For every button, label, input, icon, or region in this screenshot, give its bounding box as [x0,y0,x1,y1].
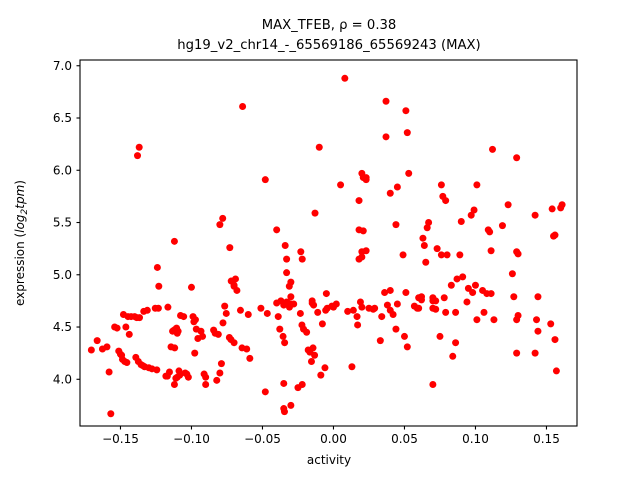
scatter-point [387,190,394,197]
scatter-point [218,360,225,367]
scatter-point [171,238,178,245]
scatter-point [370,306,377,313]
scatter-point [442,197,449,204]
scatter-point [436,333,443,340]
scatter-point [434,245,441,252]
scatter-point [199,333,206,340]
scatter-point [509,270,516,277]
scatter-point [262,388,269,395]
scatter-point [471,206,478,213]
scatter-point [513,350,520,357]
y-tick-label: 4.0 [53,372,72,386]
scatter-point [448,282,455,289]
scatter-point [94,337,101,344]
y-tick-label: 4.5 [53,320,72,334]
scatter-point [553,367,560,374]
scatter-point [363,176,370,183]
scatter-point [429,305,436,312]
scatter-point [213,377,220,384]
scatter-point [547,320,554,327]
scatter-point [490,316,497,323]
scatter-point [299,381,306,388]
scatter-point [483,290,490,297]
scatter-point [316,144,323,151]
scatter-point [499,222,506,229]
scatter-point [180,313,187,320]
scatter-point [378,313,385,320]
scatter-point [123,359,130,366]
x-tick-label: 0.00 [320,432,347,446]
x-tick-label: 0.10 [462,432,489,446]
scatter-point [456,251,463,258]
scatter-point [136,144,143,151]
x-tick-label: −0.15 [102,432,139,446]
scatter-point [458,218,465,225]
scatter-point [533,316,540,323]
y-axis-label-prefix: expression ( [13,233,27,306]
scatter-point [122,324,129,331]
scatter-point [341,75,348,82]
scatter-point [311,352,318,359]
scatter-point [452,309,459,316]
scatter-point [402,107,409,114]
scatter-point [280,333,287,340]
scatter-point [154,264,161,271]
scatter-point [134,152,141,159]
scatter-point [358,304,365,311]
scatter-point [257,305,264,312]
scatter-point [237,307,244,314]
scatter-point [317,372,324,379]
y-tick-label: 6.0 [53,163,72,177]
scatter-point [221,303,228,310]
scatter-point [283,269,290,276]
scatter-point [107,410,114,417]
scatter-point [231,339,238,346]
scatter-plot-figure: MAX_TFEB, ρ = 0.38 hg19_v2_chr14_-_65569… [0,0,640,480]
scatter-point [245,311,252,318]
scatter-point [175,328,182,335]
y-tick-label: 7.0 [53,59,72,73]
chart-title-line-2: hg19_v2_chr14_-_65569186_65569243 (MAX) [177,38,480,53]
scatter-point [299,256,306,263]
scatter-point [273,226,280,233]
scatter-point [550,233,557,240]
plot-canvas: MAX_TFEB, ρ = 0.38 hg19_v2_chr14_-_65569… [0,0,640,480]
scatter-point [350,307,357,314]
scatter-point [452,339,459,346]
scatter-point [215,331,222,338]
scatter-point [275,313,282,320]
scatter-point [459,273,466,280]
x-tick-label: −0.10 [173,432,210,446]
scatter-point [400,251,407,258]
scatter-point [551,336,558,343]
scatter-point [432,297,439,304]
y-axis-label-suffix: ) [13,180,27,185]
scatter-point [422,259,429,266]
scatter-point [549,205,556,212]
scatter-point [425,219,432,226]
scatter-point [233,287,240,294]
scatter-point [144,307,151,314]
scatter-point [232,275,239,282]
scatter-point [185,374,192,381]
scatter-point [310,344,317,351]
scatter-point [155,283,162,290]
scatter-point [297,248,304,255]
scatter-point [404,343,411,350]
y-tick-label: 6.5 [53,111,72,125]
scatter-point [281,339,288,346]
scatter-point [510,293,517,300]
scatter-point [192,316,199,323]
scatter-point [219,215,226,222]
scatter-point [348,363,355,370]
scatter-point [243,345,250,352]
scatter-point [401,333,408,340]
scatter-point [429,381,436,388]
scatter-point [287,402,294,409]
scatter-point [312,210,319,217]
scatter-point [356,197,363,204]
scatter-point [314,309,321,316]
x-tick-label: 0.05 [391,432,418,446]
scatter-point [513,154,520,161]
scatter-point [223,310,230,317]
scatter-point [442,309,449,316]
scatter-point [532,212,539,219]
scatter-point [303,329,310,336]
scatter-point [392,326,399,333]
x-tick-label: 0.15 [533,432,560,446]
scatter-point [188,284,195,291]
scatter-point [246,355,253,362]
scatter-point [191,350,198,357]
scatter-point [262,176,269,183]
scatter-point [216,370,223,377]
scatter-point [513,248,520,255]
scatter-point [239,103,246,110]
scatter-point [473,316,480,323]
scatter-point [377,337,384,344]
scatter-point [394,183,401,190]
y-tick-label: 5.0 [53,268,72,282]
scatter-point [444,251,451,258]
scatter-point [404,129,411,136]
scatter-point [202,374,209,381]
scatter-point [153,366,160,373]
y-axis-label-tpm: tpm [13,185,27,209]
scatter-point [421,242,428,249]
scatter-point [532,350,539,357]
scatter-point [515,312,522,319]
scatter-point [383,133,390,140]
scatter-point [337,181,344,188]
scatter-point [358,248,365,255]
scatter-point [534,293,541,300]
scatter-point [283,256,290,263]
scatter-point [202,381,209,388]
scatter-point [308,358,315,365]
scatter-point [418,296,425,303]
scatter-point [415,305,422,312]
scatter-point [465,285,472,292]
scatter-point [419,235,426,242]
chart-title-line-1: MAX_TFEB, ρ = 0.38 [262,18,397,33]
scatter-point [136,314,143,321]
scatter-point [280,380,287,387]
scatter-point [281,408,288,415]
scatter-point [226,244,233,251]
scatter-point [473,181,480,188]
scatter-point [287,279,294,286]
scatter-point [392,221,399,228]
scatter-point [276,326,283,333]
scatter-point [534,328,541,335]
scatter-point [505,201,512,208]
scatter-point [360,227,367,234]
scatter-point [171,381,178,388]
scatter-point [472,282,479,289]
scatter-point [310,302,317,309]
scatter-point [383,98,390,105]
scatter-point [88,347,95,354]
scatter-point [166,368,173,375]
x-axis-label: activity [307,453,351,467]
scatter-point [333,301,340,308]
scatter-point [323,290,330,297]
scatter-point [171,344,178,351]
scatter-point [390,311,397,318]
scatter-point [441,294,448,301]
scatter-point [449,353,456,360]
x-tick-label: −0.05 [244,432,281,446]
scatter-point [290,301,297,308]
scatter-point [354,321,361,328]
scatter-point [488,247,495,254]
scatter-point [394,301,401,308]
scatter-point [297,310,304,317]
scatter-point [106,368,113,375]
scatter-point [164,304,171,311]
scatter-point [489,146,496,153]
scatter-point [486,228,493,235]
scatter-point [155,305,162,312]
scatter-point [216,221,223,228]
scatter-point [438,181,445,188]
scatter-point [480,309,487,316]
scatter-point [402,289,409,296]
y-tick-label: 5.5 [53,216,72,230]
scatter-point [264,310,271,317]
scatter-point [319,320,326,327]
scatter-point [463,298,470,305]
scatter-point [354,313,361,320]
scatter-point [557,204,564,211]
scatter-point [405,170,412,177]
scatter-point [387,287,394,294]
scatter-point [321,364,328,371]
scatter-point [114,325,121,332]
scatter-point [126,331,133,338]
scatter-point [287,293,294,300]
scatter-point [282,242,289,249]
y-axis-label-log: log [13,214,27,233]
scatter-point [219,319,226,326]
scatter-point [103,343,110,350]
